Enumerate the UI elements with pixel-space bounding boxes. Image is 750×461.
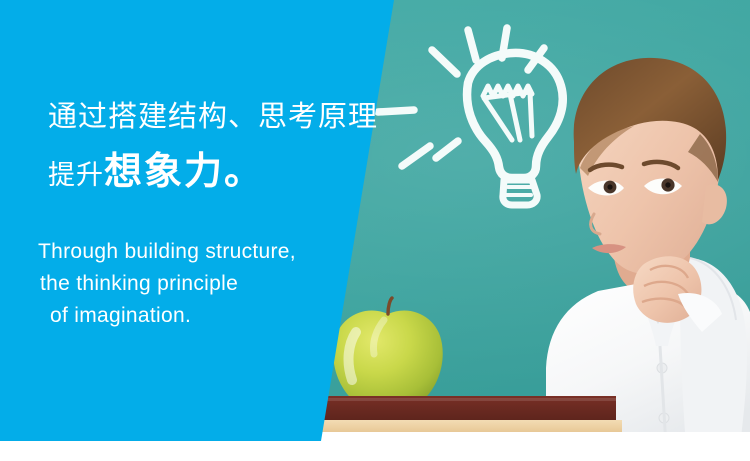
subheadline-en: Through building structure, the thinking… [38, 236, 296, 332]
headline-block: 通过搭建结构、思考原理 提升想象力。 Through building stru… [0, 0, 400, 441]
boy-photo [540, 46, 750, 441]
headline-cn-prefix: 提升 [48, 160, 104, 190]
subheadline-en-line1: Through building structure, [38, 236, 296, 268]
footer-white-strip [0, 441, 750, 461]
headline-cn-line2: 提升想象力。 [48, 153, 264, 191]
headline-cn-line1: 通过搭建结构、思考原理 [48, 103, 378, 132]
promo-banner: 通过搭建结构、思考原理 提升想象力。 Through building stru… [0, 0, 750, 461]
headline-cn-emphasis: 想象力。 [104, 151, 264, 193]
subheadline-en-line3: of imagination. [38, 300, 296, 332]
subheadline-en-line2: the thinking principle [38, 268, 296, 300]
